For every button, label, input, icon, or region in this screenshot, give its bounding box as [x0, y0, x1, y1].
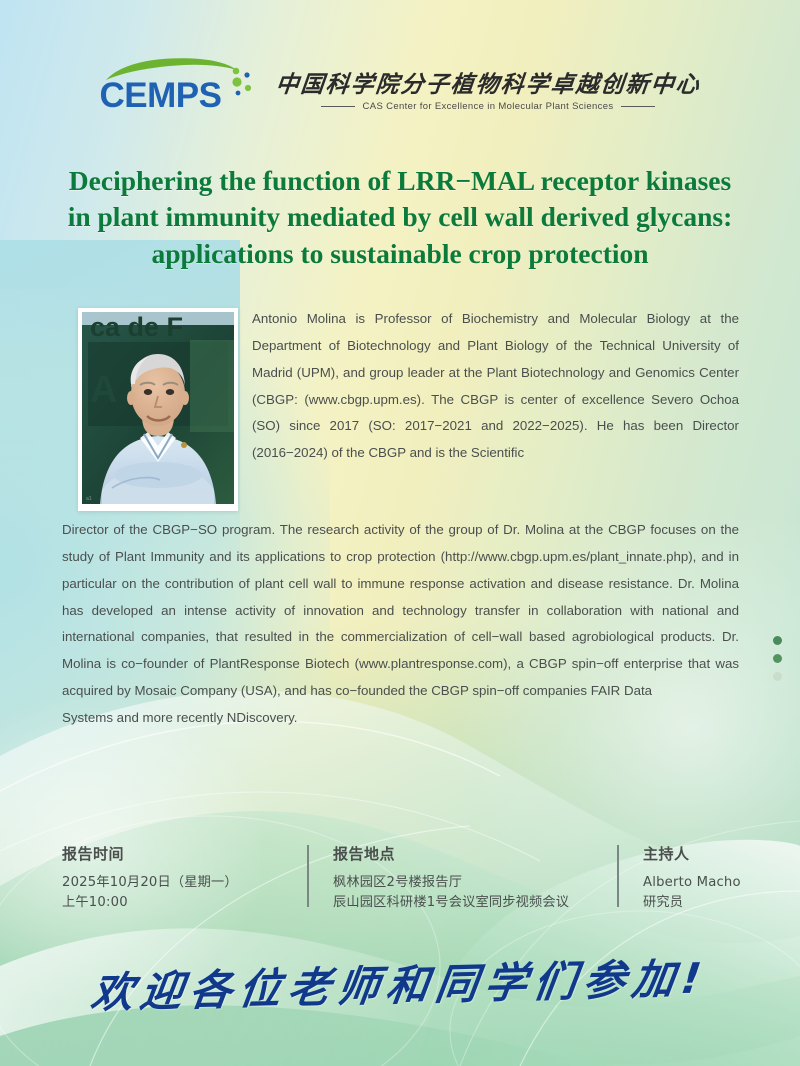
welcome-calligraphy: 欢迎各位老师和同学们参加! [0, 942, 800, 1023]
info-time-date: 2025年10月20日（星期一） [62, 873, 307, 893]
dot-icon-1 [773, 636, 782, 645]
cas-cemps-chinese-logo: 中国科学院分子植物科学卓越创新中心 CAS Center for Excelle… [276, 65, 701, 112]
event-info-row: 报告时间 2025年10月20日（星期一） 上午10:00 报告地点 枫林园区2… [62, 843, 752, 914]
svg-text:a1: a1 [86, 496, 92, 502]
dot-icon-3 [773, 672, 782, 681]
bio-paragraph-last: Systems and more recently NDiscovery. [62, 705, 739, 732]
speaker-bio-full: Director of the CBGP−SO program. The res… [62, 517, 739, 732]
info-venue-primary: 枫林园区2号楼报告厅 [333, 873, 617, 893]
cas-chinese-name: 中国科学院分子植物科学卓越创新中心 [274, 65, 703, 99]
speaker-portrait: ca de F A [78, 308, 238, 511]
rule-right [621, 106, 655, 107]
cemps-logo: CEMPS [100, 56, 250, 118]
edge-dot-decoration [773, 636, 782, 681]
info-venue-heading: 报告地点 [333, 843, 617, 864]
bio-paragraph-main: Director of the CBGP−SO program. The res… [62, 517, 739, 705]
portrait-image: ca de F A [82, 312, 234, 504]
info-block-time: 报告时间 2025年10月20日（星期一） 上午10:00 [62, 843, 307, 914]
cemps-wordmark: CEMPS [100, 78, 222, 113]
info-time-clock: 上午10:00 [62, 893, 307, 913]
title-line-2: in plant immunity mediated by cell wall … [28, 199, 772, 235]
rule-left [321, 106, 355, 107]
poster-header: CEMPS 中国科学院分子植物科学卓越创新中心 CAS Center for E… [0, 56, 800, 118]
cas-english-name: CAS Center for Excellence in Molecular P… [363, 101, 614, 112]
cemps-dots-icon [228, 66, 256, 100]
info-time-heading: 报告时间 [62, 843, 307, 864]
title-line-1: Deciphering the function of LRR−MAL rece… [28, 163, 772, 199]
info-block-venue: 报告地点 枫林园区2号楼报告厅 辰山园区科研楼1号会议室同步视频会议 [307, 843, 617, 914]
info-block-host: 主持人 Alberto Macho 研究员 [617, 843, 752, 914]
title-line-3: applications to sustainable crop protect… [28, 236, 772, 272]
info-host-title: 研究员 [643, 893, 752, 913]
cas-english-name-row: CAS Center for Excellence in Molecular P… [276, 101, 701, 112]
speaker-bio-wrapped: Antonio Molina is Professor of Biochemis… [252, 306, 739, 467]
svg-text:ca de F: ca de F [90, 312, 183, 342]
seminar-poster: CEMPS 中国科学院分子植物科学卓越创新中心 CAS Center for E… [0, 0, 800, 1066]
page-title: Deciphering the function of LRR−MAL rece… [0, 163, 800, 272]
info-host-name: Alberto Macho [643, 873, 752, 893]
svg-text:A: A [90, 369, 117, 411]
dot-icon-2 [773, 654, 782, 663]
info-venue-secondary: 辰山园区科研楼1号会议室同步视频会议 [333, 893, 617, 913]
info-host-heading: 主持人 [643, 843, 752, 864]
portrait-illustration: ca de F A [82, 312, 234, 504]
